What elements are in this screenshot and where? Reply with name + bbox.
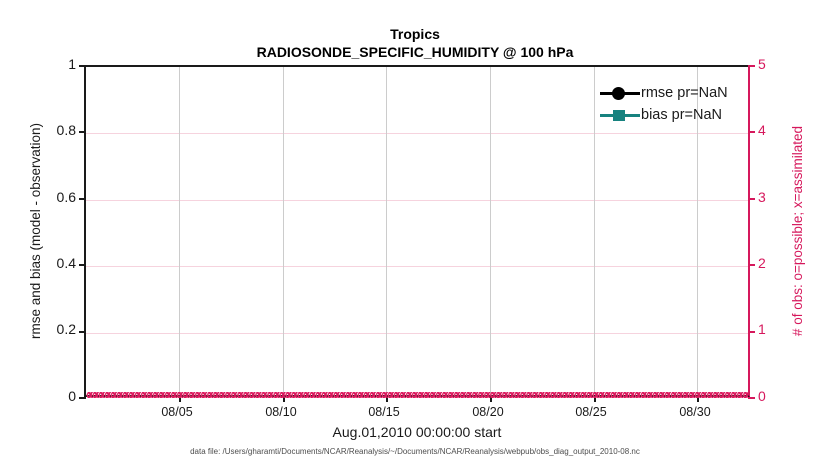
gridline-horizontal: [86, 133, 748, 134]
y-tick-left: [79, 331, 86, 333]
y-tick-left: [79, 198, 86, 200]
square-marker-icon: [613, 110, 625, 121]
gridline-vertical: [386, 67, 387, 395]
data-file-note: data file: /Users/gharamti/Documents/NCA…: [0, 447, 830, 456]
y-tick-label-right: 2: [758, 255, 766, 271]
x-axis-title: Aug.01,2010 00:00:00 start: [84, 424, 750, 440]
y-tick-right: [748, 198, 755, 200]
y-tick-left: [79, 65, 86, 67]
y-axis-title-right: # of obs: o=possible; x=assimilated: [790, 65, 810, 397]
y-tick-right: [748, 397, 755, 399]
title-block: Tropics RADIOSONDE_SPECIFIC_HUMIDITY @ 1…: [0, 26, 830, 62]
gridline-horizontal: [86, 333, 748, 334]
x-tick-label: 08/05: [161, 405, 192, 419]
y-tick-right: [748, 264, 755, 266]
legend-item-bias[interactable]: bias pr=NaN: [600, 104, 748, 126]
y-tick-label-right: 3: [758, 189, 766, 205]
legend-item-rmse[interactable]: rmse pr=NaN: [600, 82, 748, 104]
legend-label-rmse: rmse pr=NaN: [641, 85, 728, 101]
y-tick-label-right: 5: [758, 56, 766, 72]
gridline-horizontal: [86, 266, 748, 267]
x-tick-label: 08/30: [679, 405, 710, 419]
y-tick-label-left: 0.4: [16, 255, 76, 271]
plot-area[interactable]: oooooooooooooooooooooooooooooooooooooooo…: [84, 65, 750, 397]
legend-swatch-bias: [600, 106, 640, 124]
gridline-vertical: [594, 67, 595, 395]
obs-assimilated-marker-band: xxxxxxxxxxxxxxxxxxxxxxxxxxxxxxxxxxxxxxxx…: [87, 388, 748, 401]
x-tick-label: 08/15: [368, 405, 399, 419]
page-title: Tropics: [0, 26, 830, 43]
y-tick-label-left: 0.6: [16, 189, 76, 205]
x-tick-label: 08/20: [472, 405, 503, 419]
gridline-vertical: [283, 67, 284, 395]
x-tick-label: 08/10: [265, 405, 296, 419]
y-tick-label-right: 4: [758, 122, 766, 138]
chart-subtitle: RADIOSONDE_SPECIFIC_HUMIDITY @ 100 hPa: [0, 43, 830, 62]
gridline-vertical: [179, 67, 180, 395]
y-tick-label-left: 0: [16, 388, 76, 404]
y-tick-label-right: 0: [758, 388, 766, 404]
y-tick-right: [748, 65, 755, 67]
y-tick-right: [748, 131, 755, 133]
y-axis-title-left: rmse and bias (model - observation): [28, 65, 48, 397]
legend-swatch-rmse: [600, 84, 640, 102]
y-tick-label-left: 1: [16, 56, 76, 72]
y-tick-left: [79, 131, 86, 133]
y-tick-left: [79, 397, 86, 399]
legend: rmse pr=NaN bias pr=NaN: [600, 82, 748, 126]
y-tick-right: [748, 331, 755, 333]
gridline-horizontal: [86, 200, 748, 201]
x-tick-label: 08/25: [575, 405, 606, 419]
y-tick-left: [79, 264, 86, 266]
circle-marker-icon: [612, 87, 625, 100]
legend-label-bias: bias pr=NaN: [641, 107, 722, 123]
y-tick-label-left: 0.2: [16, 321, 76, 337]
gridline-vertical: [490, 67, 491, 395]
y-tick-label-right: 1: [758, 321, 766, 337]
y-tick-label-left: 0.8: [16, 122, 76, 138]
